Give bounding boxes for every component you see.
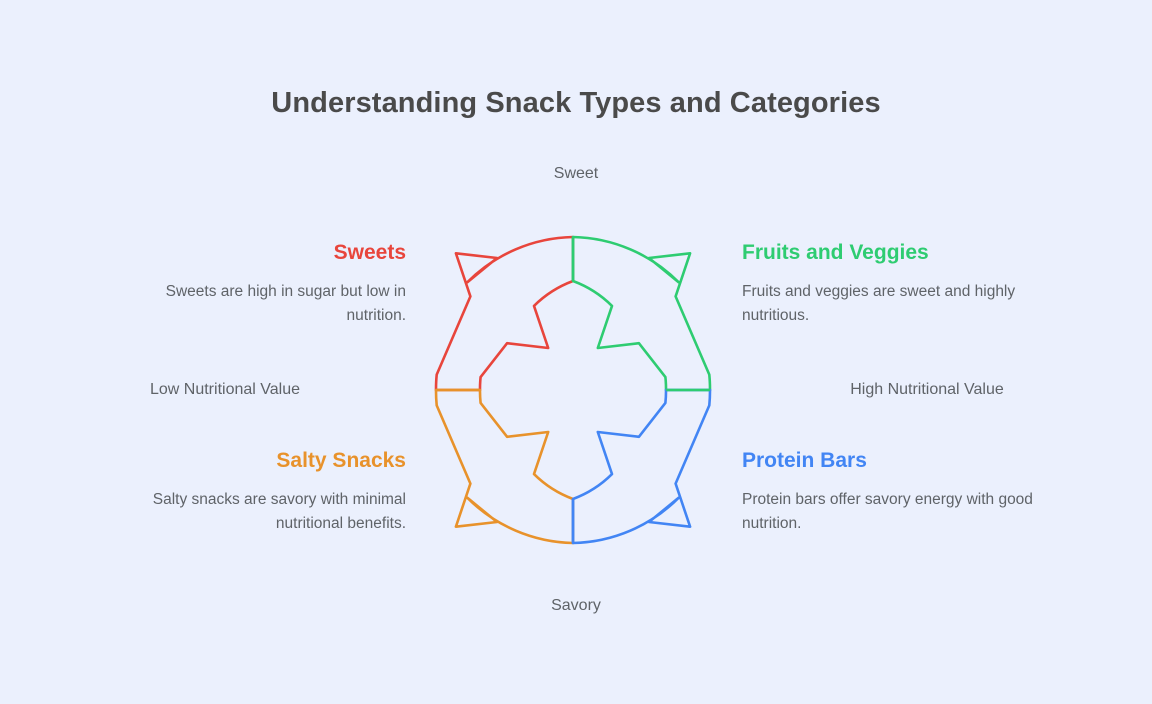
quadrant-title-protein-bars: Protein Bars bbox=[742, 449, 1042, 472]
quadrant-shape-fruits-and-veggies[interactable] bbox=[573, 237, 710, 390]
quadrant-title-fruits-and-veggies: Fruits and Veggies bbox=[742, 241, 1042, 264]
quadrant-shape-protein-bars[interactable] bbox=[573, 390, 710, 543]
quadrant-shape-sweets[interactable] bbox=[436, 237, 573, 390]
quadrant-description-fruits-and-veggies: Fruits and veggies are sweet and highly … bbox=[742, 280, 1042, 328]
quadrant-description-protein-bars: Protein bars offer savory energy with go… bbox=[742, 488, 1042, 536]
quadrant-description-sweets: Sweets are high in sugar but low in nutr… bbox=[106, 280, 406, 328]
quadrant-description-salty-snacks: Salty snacks are savory with minimal nut… bbox=[106, 488, 406, 536]
quadrant-sweets[interactable]: Sweets Sweets are high in sugar but low … bbox=[106, 241, 406, 328]
quadrant-title-salty-snacks: Salty Snacks bbox=[106, 449, 406, 472]
quadrant-shape-salty-snacks[interactable] bbox=[436, 390, 573, 543]
quadrant-fruits-and-veggies[interactable]: Fruits and Veggies Fruits and veggies ar… bbox=[742, 241, 1042, 328]
quadrant-title-sweets: Sweets bbox=[106, 241, 406, 264]
quadrant-salty-snacks[interactable]: Salty Snacks Salty snacks are savory wit… bbox=[106, 449, 406, 536]
quadrant-protein-bars[interactable]: Protein Bars Protein bars offer savory e… bbox=[742, 449, 1042, 536]
quadrant-diagram bbox=[0, 0, 1152, 704]
